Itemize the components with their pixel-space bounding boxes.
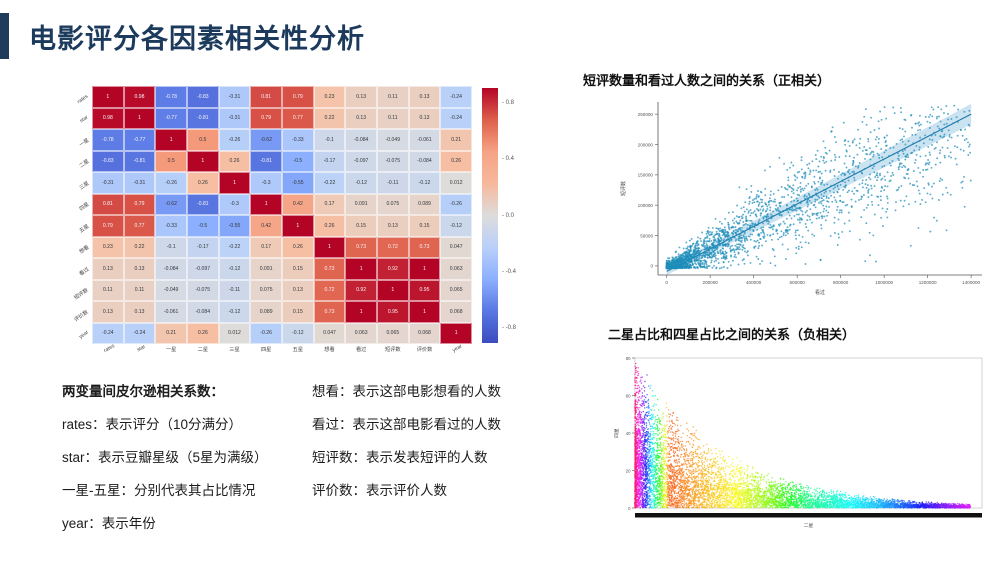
colorbar-tick: - -0.8: [502, 325, 516, 331]
colorbar-tick: - 0.8: [502, 100, 514, 106]
title-accent-bar: [0, 13, 9, 59]
heatmap-cell: -0.061: [155, 301, 187, 323]
heatmap-cell: 0.13: [409, 108, 441, 130]
heatmap-cell: 0.79: [124, 194, 156, 216]
heatmap-cell: 1: [282, 215, 314, 237]
heatmap-cell: 1: [92, 86, 124, 108]
scatter1-svg: 0500001000001500002000002500000200000400…: [600, 96, 990, 311]
heatmap-y-label: 五星: [77, 222, 90, 234]
heatmap-cell: -0.31: [219, 108, 251, 130]
heatmap-cell: -0.12: [345, 172, 377, 194]
heatmap-cell: 1: [345, 258, 377, 280]
heatmap-cell: 0.089: [250, 301, 282, 323]
heatmap-cell: -0.83: [187, 86, 219, 108]
heatmap-cell: -0.26: [250, 323, 282, 345]
heatmap-cell: -0.77: [124, 129, 156, 151]
heatmap-y-label: 二星: [77, 158, 90, 170]
svg-text:200000: 200000: [703, 280, 719, 285]
heatmap-cell: 1: [124, 108, 156, 130]
heatmap-cell: 0.77: [282, 108, 314, 130]
heatmap-cell: 0.089: [409, 194, 441, 216]
svg-text:看过: 看过: [815, 289, 825, 296]
heatmap-cell: 1: [250, 194, 282, 216]
heatmap-cell: 0.17: [314, 194, 346, 216]
svg-text:1200000: 1200000: [919, 280, 937, 285]
heatmap-cell: -0.11: [377, 172, 409, 194]
heatmap-cell: -0.81: [187, 194, 219, 216]
svg-text:0: 0: [665, 280, 668, 285]
heatmap-cell: -0.3: [219, 194, 251, 216]
heatmap-cell: 0.15: [282, 301, 314, 323]
correlation-heatmap: ratesstar一星二星三星四星五星想看看过短评数评价数year 10.98-…: [58, 86, 528, 366]
heatmap-cell: -0.1: [314, 129, 346, 151]
heatmap-y-label: 四星: [77, 201, 90, 213]
heatmap-cell: -0.78: [92, 129, 124, 151]
page-title-text: 电影评分各因素相关性分析: [29, 17, 365, 56]
heatmap-cell: -0.81: [124, 151, 156, 173]
heatmap-cell: 0.21: [440, 129, 472, 151]
svg-text:200000: 200000: [638, 142, 654, 147]
colorbar-ticks: - 0.8- 0.4- 0.0- -0.4- -0.8: [500, 86, 534, 344]
variable-legend: 两变量间皮尔逊相关系数： 想看：表示这部电影想看的人数 rates：表示评分（1…: [62, 380, 572, 545]
heatmap-x-label: 看过: [345, 346, 377, 368]
heatmap-cell: 0.15: [345, 215, 377, 237]
legend-heading: 两变量间皮尔逊相关系数：: [62, 384, 224, 399]
colorbar-tick: - -0.4: [502, 269, 516, 275]
heatmap-cell: 1: [409, 258, 441, 280]
heatmap-cell: -0.097: [345, 151, 377, 173]
heatmap-cell: 0.065: [377, 323, 409, 345]
heatmap-cell: -0.81: [250, 151, 282, 173]
heatmap-cell: -0.084: [409, 151, 441, 173]
legend-left-1: star：表示豆瓣星级（5星为满级）: [62, 450, 268, 465]
scatter-plot-two-star-vs-four-star: 020406080四星二星: [607, 352, 992, 542]
heatmap-cell: -0.78: [155, 86, 187, 108]
legend-right-3: 评价数：表示评价人数: [312, 483, 447, 498]
svg-text:250000: 250000: [638, 112, 654, 117]
heatmap-cell: -0.17: [187, 237, 219, 259]
heatmap-cell: -0.5: [282, 151, 314, 173]
legend-right-1: 看过：表示这部电影看过的人数: [312, 417, 501, 432]
heatmap-cell: -0.24: [440, 86, 472, 108]
legend-right-2: 短评数：表示发表短评的人数: [312, 450, 488, 465]
heatmap-cell: 0.79: [282, 86, 314, 108]
heatmap-x-axis: ratesstar一星二星三星四星五星想看看过短评数评价数year: [92, 346, 472, 368]
heatmap-cell: -0.049: [155, 280, 187, 302]
scatter2-svg: 020406080四星二星: [607, 352, 992, 542]
heatmap-cell: -0.12: [219, 258, 251, 280]
heatmap-cell: -0.12: [409, 172, 441, 194]
svg-text:50000: 50000: [640, 233, 653, 238]
heatmap-cell: -0.084: [155, 258, 187, 280]
colorbar-tick: - 0.4: [502, 156, 514, 162]
heatmap-cell: -0.075: [187, 280, 219, 302]
legend-right-0: 想看：表示这部电影想看的人数: [312, 384, 501, 399]
heatmap-cell: 0.22: [124, 237, 156, 259]
heatmap-cell: -0.5: [187, 215, 219, 237]
heatmap-cell: 0.047: [314, 323, 346, 345]
heatmap-cell: 0.26: [187, 172, 219, 194]
heatmap-grid: 10.98-0.78-0.83-0.310.810.790.230.130.11…: [92, 86, 472, 344]
heatmap-cell: -0.55: [219, 215, 251, 237]
heatmap-cell: 0.26: [282, 237, 314, 259]
heatmap-cell: 0.79: [92, 215, 124, 237]
heatmap-cell: 0.73: [314, 301, 346, 323]
chart1-title: 短评数量和看过人数之间的关系（正相关）: [583, 70, 830, 89]
heatmap-cell: 0.012: [440, 172, 472, 194]
heatmap-cell: -0.26: [219, 129, 251, 151]
scatter-plot-comments-vs-watched: 0500001000001500002000002500000200000400…: [600, 96, 990, 311]
heatmap-cell: 0.5: [155, 151, 187, 173]
heatmap-cell: 0.17: [250, 237, 282, 259]
heatmap-cell: -0.26: [440, 194, 472, 216]
colorbar-tick: - 0.0: [502, 213, 514, 219]
heatmap-x-label: 四星: [250, 346, 282, 368]
heatmap-cell: 0.42: [250, 215, 282, 237]
svg-text:100000: 100000: [638, 203, 654, 208]
heatmap-cell: 0.15: [409, 215, 441, 237]
heatmap-cell: 0.73: [409, 237, 441, 259]
heatmap-cell: 0.075: [377, 194, 409, 216]
heatmap-cell: -0.83: [92, 151, 124, 173]
heatmap-cell: -0.22: [219, 237, 251, 259]
heatmap-cell: 0.26: [187, 323, 219, 345]
heatmap-y-label: star: [79, 115, 90, 125]
heatmap-colorbar: [482, 88, 498, 343]
heatmap-cell: -0.31: [92, 172, 124, 194]
legend-left-2: 一星-五星：分别代表其占比情况: [62, 483, 256, 498]
heatmap-cell: 1: [314, 237, 346, 259]
heatmap-cell: -0.075: [377, 151, 409, 173]
heatmap-cell: 0.95: [409, 280, 441, 302]
svg-text:1000000: 1000000: [875, 280, 893, 285]
heatmap-y-label: 看过: [77, 265, 90, 277]
heatmap-cell: 0.075: [250, 280, 282, 302]
heatmap-x-label: 想看: [314, 346, 346, 368]
heatmap-cell: 0.92: [345, 280, 377, 302]
heatmap-y-label: 一星: [77, 136, 90, 148]
heatmap-cell: 0.21: [155, 323, 187, 345]
heatmap-cell: 1: [155, 129, 187, 151]
heatmap-cell: 0.72: [377, 237, 409, 259]
legend-left-3: year：表示年份: [62, 516, 156, 531]
svg-text:600000: 600000: [789, 280, 805, 285]
heatmap-cell: -0.31: [124, 172, 156, 194]
heatmap-x-label: 五星: [282, 346, 314, 368]
slide-root: 电影评分各因素相关性分析 ratesstar一星二星三星四星五星想看看过短评数评…: [0, 0, 1004, 563]
svg-text:1400000: 1400000: [962, 280, 980, 285]
svg-text:20: 20: [626, 468, 631, 473]
heatmap-cell: 0.26: [440, 151, 472, 173]
heatmap-cell: 1: [409, 301, 441, 323]
heatmap-cell: 0.13: [124, 258, 156, 280]
heatmap-cell: 0.13: [345, 108, 377, 130]
heatmap-cell: 0.13: [345, 86, 377, 108]
heatmap-cell: 0.091: [345, 194, 377, 216]
heatmap-cell: 0.065: [440, 280, 472, 302]
heatmap-cell: 0.72: [314, 280, 346, 302]
heatmap-cell: -0.17: [314, 151, 346, 173]
heatmap-cell: 0.13: [409, 86, 441, 108]
heatmap-cell: 0.13: [124, 301, 156, 323]
heatmap-cell: 0.13: [92, 258, 124, 280]
heatmap-cell: -0.55: [282, 172, 314, 194]
heatmap-cell: -0.084: [345, 129, 377, 151]
heatmap-cell: 0.068: [440, 301, 472, 323]
heatmap-cell: -0.22: [314, 172, 346, 194]
heatmap-y-label: 短评数: [73, 287, 90, 302]
heatmap-cell: -0.62: [155, 194, 187, 216]
heatmap-cell: 0.15: [282, 258, 314, 280]
heatmap-cell: -0.12: [440, 215, 472, 237]
heatmap-y-label: 想看: [77, 244, 90, 256]
heatmap-y-label: year: [78, 330, 90, 341]
heatmap-y-label: 三星: [77, 179, 90, 191]
svg-text:150000: 150000: [638, 173, 654, 178]
chart2-title: 二星占比和四星占比之间的关系（负相关）: [608, 324, 855, 343]
heatmap-cell: 0.92: [377, 258, 409, 280]
svg-text:0: 0: [650, 264, 653, 269]
heatmap-cell: 0.012: [219, 323, 251, 345]
heatmap-cell: -0.33: [155, 215, 187, 237]
heatmap-y-axis: ratesstar一星二星三星四星五星想看看过短评数评价数year: [58, 86, 91, 344]
heatmap-cell: -0.12: [219, 301, 251, 323]
heatmap-cell: -0.26: [155, 172, 187, 194]
heatmap-cell: 0.091: [250, 258, 282, 280]
heatmap-cell: 0.95: [377, 301, 409, 323]
heatmap-x-label: 二星: [187, 346, 219, 368]
heatmap-cell: -0.061: [409, 129, 441, 151]
heatmap-cell: 0.98: [124, 86, 156, 108]
heatmap-cell: 0.23: [314, 86, 346, 108]
heatmap-cell: -0.33: [282, 129, 314, 151]
svg-text:40: 40: [626, 431, 631, 436]
svg-text:80: 80: [626, 356, 631, 361]
heatmap-cell: 0.98: [92, 108, 124, 130]
heatmap-cell: 1: [377, 280, 409, 302]
svg-text:0: 0: [628, 506, 631, 511]
heatmap-cell: 0.26: [314, 215, 346, 237]
heatmap-cell: 0.11: [92, 280, 124, 302]
heatmap-cell: 0.81: [250, 86, 282, 108]
heatmap-cell: 1: [345, 301, 377, 323]
heatmap-cell: 0.42: [282, 194, 314, 216]
heatmap-cell: 0.5: [187, 129, 219, 151]
heatmap-cell: -0.3: [250, 172, 282, 194]
heatmap-cell: 0.79: [250, 108, 282, 130]
svg-text:400000: 400000: [746, 280, 762, 285]
heatmap-cell: 0.23: [92, 237, 124, 259]
svg-text:800000: 800000: [833, 280, 849, 285]
heatmap-cell: 0.047: [440, 237, 472, 259]
heatmap-y-label: 评价数: [73, 308, 90, 323]
heatmap-cell: 0.11: [377, 86, 409, 108]
heatmap-cell: -0.31: [219, 86, 251, 108]
heatmap-cell: 1: [219, 172, 251, 194]
heatmap-cell: -0.049: [377, 129, 409, 151]
heatmap-cell: 0.22: [314, 108, 346, 130]
heatmap-x-label: 短评数: [377, 346, 409, 368]
heatmap-cell: -0.12: [282, 323, 314, 345]
heatmap-cell: -0.097: [187, 258, 219, 280]
heatmap-cell: 0.063: [440, 258, 472, 280]
svg-text:短评数: 短评数: [620, 181, 627, 196]
svg-text:四星: 四星: [614, 428, 620, 438]
heatmap-cell: 0.11: [124, 280, 156, 302]
heatmap-cell: -0.62: [250, 129, 282, 151]
heatmap-cell: 0.13: [92, 301, 124, 323]
page-title: 电影评分各因素相关性分析: [0, 13, 365, 59]
heatmap-cell: 0.26: [219, 151, 251, 173]
heatmap-cell: 0.73: [345, 237, 377, 259]
heatmap-cell: 0.77: [124, 215, 156, 237]
heatmap-cell: 0.73: [314, 258, 346, 280]
heatmap-cell: -0.11: [219, 280, 251, 302]
svg-text:60: 60: [626, 393, 631, 398]
heatmap-cell: -0.81: [187, 108, 219, 130]
heatmap-cell: 0.81: [92, 194, 124, 216]
heatmap-cell: -0.084: [187, 301, 219, 323]
svg-text:二星: 二星: [804, 523, 814, 529]
heatmap-cell: 0.13: [377, 215, 409, 237]
heatmap-cell: 0.13: [282, 280, 314, 302]
heatmap-cell: 0.11: [377, 108, 409, 130]
heatmap-cell: -0.77: [155, 108, 187, 130]
legend-left-0: rates：表示评分（10分满分）: [62, 417, 242, 432]
heatmap-cell: 0.068: [409, 323, 441, 345]
heatmap-y-label: rates: [77, 93, 90, 105]
heatmap-cell: 1: [187, 151, 219, 173]
heatmap-cell: -0.24: [440, 108, 472, 130]
heatmap-x-label: 三星: [219, 346, 251, 368]
heatmap-cell: 0.063: [345, 323, 377, 345]
heatmap-x-label: 评价数: [409, 346, 441, 368]
heatmap-cell: -0.1: [155, 237, 187, 259]
